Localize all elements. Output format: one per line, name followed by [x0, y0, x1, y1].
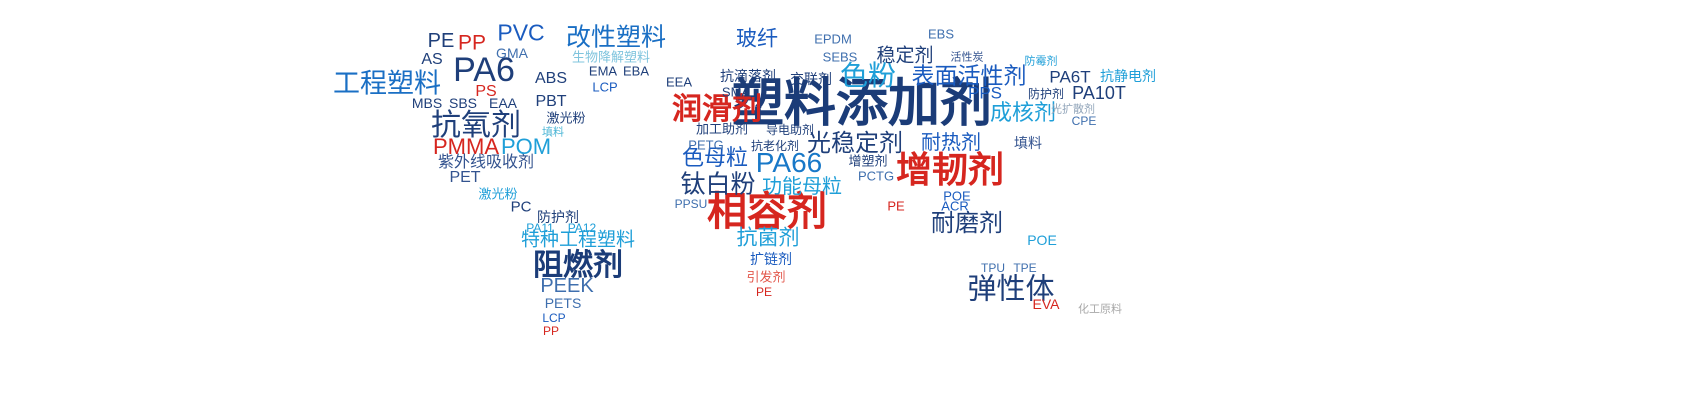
cloud-word[interactable]: EPDM: [814, 33, 852, 46]
cloud-word[interactable]: 导电助剂: [766, 124, 814, 136]
cloud-word[interactable]: PA10T: [1072, 84, 1126, 102]
cloud-word[interactable]: POE: [1027, 233, 1057, 247]
cloud-word[interactable]: PETS: [545, 296, 582, 310]
cloud-word[interactable]: PPSU: [675, 198, 708, 210]
cloud-word[interactable]: SBS: [449, 96, 477, 110]
cloud-word[interactable]: PET: [449, 170, 480, 186]
cloud-word[interactable]: PMMA: [433, 136, 499, 158]
cloud-word[interactable]: EBA: [623, 65, 649, 78]
cloud-word[interactable]: POM: [501, 136, 551, 158]
cloud-word[interactable]: 耐磨剂: [931, 212, 1003, 236]
cloud-word[interactable]: PBT: [535, 94, 566, 110]
cloud-word[interactable]: 填料: [542, 128, 564, 139]
cloud-word[interactable]: LCP: [592, 81, 617, 94]
cloud-word[interactable]: EEA: [666, 76, 692, 89]
cloud-word[interactable]: 耐热剂: [921, 133, 981, 153]
cloud-word[interactable]: 增塑剂: [848, 155, 887, 168]
cloud-word[interactable]: EBS: [928, 28, 954, 41]
cloud-word[interactable]: 生物降解塑料: [572, 51, 650, 64]
cloud-word[interactable]: LCP: [542, 312, 565, 324]
cloud-word[interactable]: CPE: [1072, 115, 1097, 127]
cloud-word[interactable]: AS: [421, 52, 442, 68]
cloud-word[interactable]: PA11: [526, 222, 554, 234]
cloud-word[interactable]: MBS: [412, 96, 442, 110]
cloud-word[interactable]: PC: [511, 200, 532, 215]
cloud-word[interactable]: 防护剂: [1028, 88, 1064, 100]
cloud-word[interactable]: PP: [458, 33, 486, 54]
cloud-word[interactable]: GMA: [496, 46, 528, 60]
cloud-word[interactable]: 润滑剂: [672, 95, 762, 125]
cloud-word[interactable]: PEEK: [540, 276, 593, 296]
cloud-word[interactable]: 抗滴落剂: [720, 69, 776, 83]
cloud-word[interactable]: PE: [756, 286, 772, 298]
cloud-word[interactable]: 功能母粒: [762, 177, 842, 197]
cloud-word[interactable]: PA66: [756, 149, 822, 177]
cloud-word[interactable]: 引发剂: [746, 271, 785, 284]
cloud-word[interactable]: 抗老化剂: [751, 140, 799, 152]
cloud-word[interactable]: 活性炭: [951, 53, 984, 64]
cloud-word[interactable]: 激光粉: [546, 112, 585, 125]
cloud-word[interactable]: PPS: [968, 85, 1002, 102]
cloud-word[interactable]: ABS: [535, 71, 567, 87]
cloud-word[interactable]: PETG: [688, 139, 723, 152]
cloud-word[interactable]: PCTG: [858, 170, 894, 183]
cloud-word[interactable]: EMA: [589, 65, 617, 78]
cloud-word[interactable]: 改性塑料: [566, 26, 666, 51]
cloud-word[interactable]: EVA: [1033, 297, 1060, 311]
cloud-word[interactable]: 玻纤: [736, 29, 778, 50]
cloud-word[interactable]: 化工原料: [1078, 305, 1122, 316]
cloud-word[interactable]: 增韧剂: [896, 152, 1004, 188]
cloud-word[interactable]: 钛白粉: [680, 173, 755, 198]
cloud-word[interactable]: 稳定剂: [876, 47, 933, 66]
cloud-word[interactable]: 成核剂: [990, 102, 1056, 124]
cloud-word[interactable]: 交联剂: [790, 72, 832, 86]
cloud-word[interactable]: SMA: [722, 86, 750, 99]
cloud-word[interactable]: 抗静电剂: [1100, 69, 1156, 83]
cloud-word[interactable]: 加工助剂: [696, 123, 748, 136]
cloud-word[interactable]: 扩链剂: [750, 252, 792, 266]
cloud-word[interactable]: PVC: [497, 22, 544, 45]
cloud-word[interactable]: PE: [887, 200, 904, 213]
cloud-word[interactable]: PE: [428, 31, 455, 51]
cloud-word[interactable]: 抗菌剂: [737, 228, 800, 249]
cloud-word[interactable]: PA12: [568, 222, 596, 234]
word-cloud-canvas: 塑料添加剂相容剂增韧剂润滑剂阻燃剂工程塑料抗氧剂PA6色粉表面活性剂光稳定剂PA…: [0, 0, 1707, 400]
cloud-word[interactable]: EAA: [489, 96, 517, 110]
cloud-word[interactable]: TPU: [981, 262, 1005, 274]
cloud-word[interactable]: 工程塑料: [333, 71, 441, 98]
cloud-word[interactable]: PP: [543, 325, 559, 337]
cloud-word[interactable]: TPE: [1013, 262, 1036, 274]
cloud-word[interactable]: 防霉剂: [1025, 57, 1058, 68]
cloud-word[interactable]: 填料: [1014, 136, 1042, 150]
cloud-word[interactable]: SEBS: [823, 51, 858, 64]
cloud-word[interactable]: ACR: [941, 200, 968, 213]
